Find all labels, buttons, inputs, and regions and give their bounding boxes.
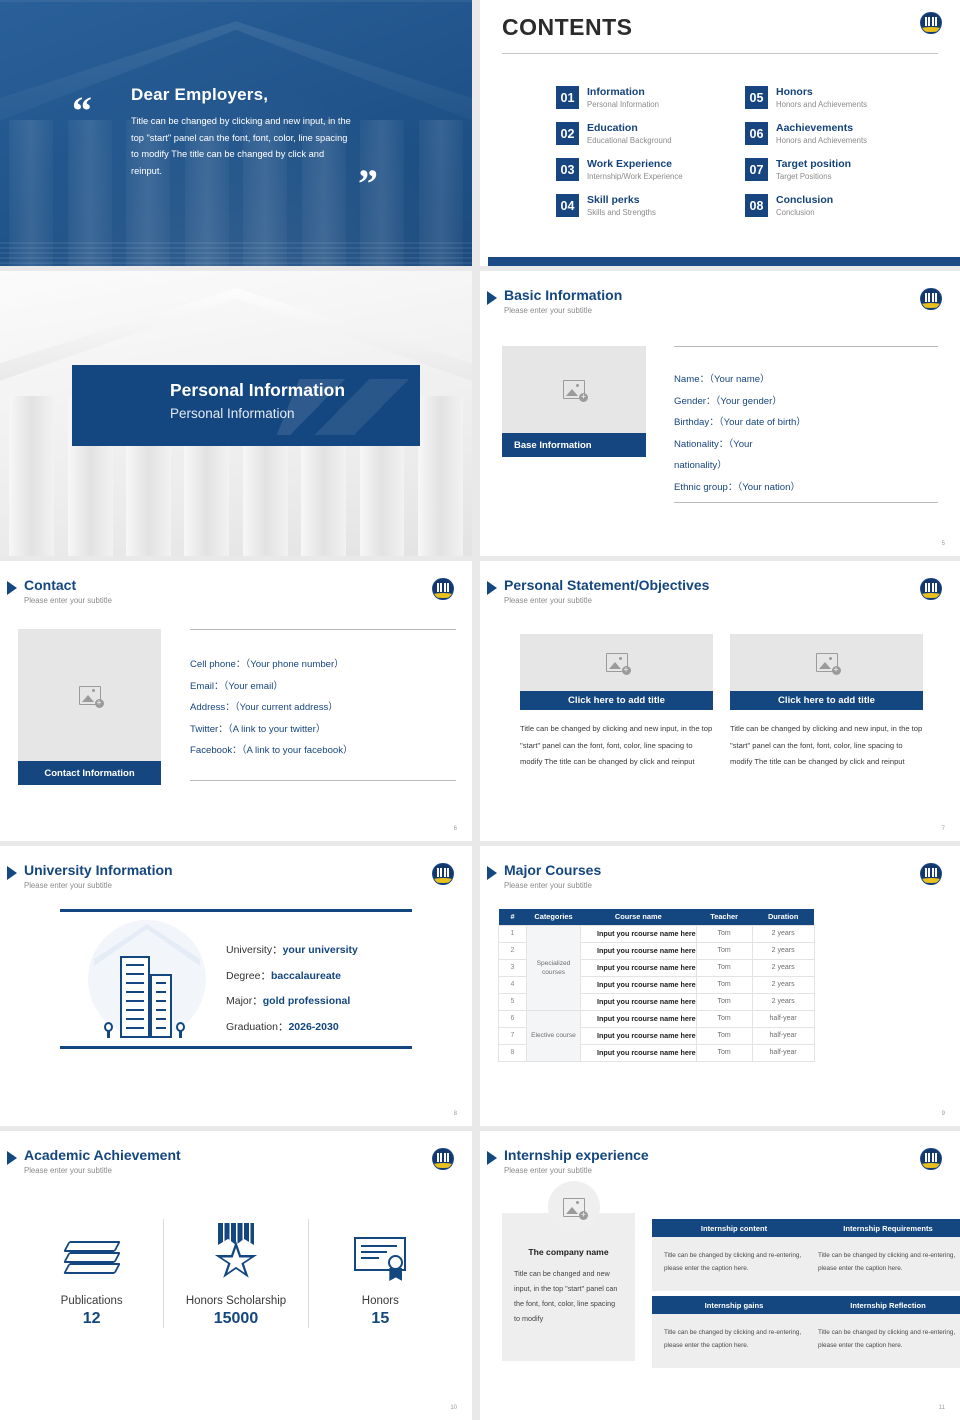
page-title: Academic Achievement — [24, 1147, 181, 1163]
field-nationality-cont: nationality） — [674, 455, 938, 477]
cell-course: Input you rcourse name here — [581, 942, 697, 959]
statement-card-2[interactable]: + Click here to add title Title can be c… — [730, 634, 923, 771]
cell-course: Input you rcourse name here — [581, 1027, 697, 1044]
page-subtitle: Please enter your subtitle — [504, 1166, 592, 1175]
cover-text-block: Dear Employers, Title can be changed by … — [131, 85, 351, 179]
contents-number: 06 — [745, 122, 768, 145]
card-caption[interactable]: Internship gains — [652, 1296, 816, 1314]
cell-course: Input you rcourse name here — [581, 959, 697, 976]
card-caption[interactable]: Internship Reflection — [806, 1296, 960, 1314]
stat-label: Honors Scholarship — [186, 1295, 286, 1307]
stat-label: Publications — [61, 1295, 123, 1307]
cell-index: 5 — [499, 993, 527, 1010]
add-image-icon: + — [606, 653, 628, 672]
cell-index: 2 — [499, 942, 527, 959]
card-body: Title can be changed by clicking and re-… — [652, 1314, 816, 1368]
contents-item-title: Work Experience — [587, 158, 683, 171]
contents-item-subtitle: Personal Information — [587, 99, 659, 110]
photo-placeholder[interactable]: + — [520, 634, 713, 691]
contents-item-title: Skill perks — [587, 194, 656, 207]
university-logo-icon — [432, 578, 454, 600]
contents-item-07[interactable]: 07 Target position Target Positions — [745, 158, 930, 182]
page-title: Major Courses — [504, 862, 601, 878]
tree-icon — [176, 1022, 185, 1038]
cell-duration: 2 years — [752, 976, 814, 993]
contents-item-03[interactable]: 03 Work Experience Internship/Work Exper… — [556, 158, 741, 182]
cover-body-text: Title can be changed by clicking and new… — [131, 113, 351, 179]
page-number: 7 — [942, 826, 945, 832]
university-info-box: University：your university Degree：baccal… — [60, 909, 412, 1049]
quote-open-icon: “ — [72, 95, 92, 127]
slide-section-divider[interactable]: Personal Information Personal Informatio… — [0, 271, 472, 556]
internship-card-requirements[interactable]: Internship Requirements Title can be cha… — [806, 1219, 960, 1291]
internship-card-content[interactable]: Internship content Title can be changed … — [652, 1219, 816, 1291]
university-logo-icon — [920, 12, 942, 34]
contents-item-title: Information — [587, 86, 659, 99]
card-caption[interactable]: Internship content — [652, 1219, 816, 1237]
cell-duration: 2 years — [752, 959, 814, 976]
contents-item-subtitle: Educational Background — [587, 135, 672, 146]
field-cell-phone: Cell phone：（Your phone number） — [190, 654, 456, 676]
cell-teacher: Tom — [696, 925, 752, 942]
building-icon-tall — [120, 956, 150, 1038]
page-subtitle: Please enter your subtitle — [24, 1166, 112, 1175]
cell-duration: half-year — [752, 1027, 814, 1044]
page-subtitle: Please enter your subtitle — [504, 596, 592, 605]
statement-body-text: Title can be changed by clicking and new… — [730, 721, 923, 771]
page-subtitle: Please enter your subtitle — [504, 306, 592, 315]
cell-duration: half-year — [752, 1044, 814, 1061]
page-number: 8 — [454, 1111, 457, 1117]
cell-course: Input you rcourse name here — [581, 993, 697, 1010]
tree-icon — [104, 1022, 113, 1038]
th-teacher: Teacher — [696, 909, 752, 925]
contents-list: 01 Information Personal Information 05 H… — [556, 86, 930, 218]
cell-teacher: Tom — [696, 1044, 752, 1061]
slide-deck-grid: “ ” Dear Employers, Title can be changed… — [0, 0, 960, 1400]
cell-course: Input you rcourse name here — [581, 925, 697, 942]
add-image-icon: + — [563, 380, 585, 399]
contents-number: 04 — [556, 194, 579, 217]
contents-item-title: Conclusion — [776, 194, 833, 207]
base-information-caption[interactable]: Base Information — [502, 433, 646, 457]
slide-university-information[interactable]: University Information Please enter your… — [0, 846, 472, 1126]
cell-index: 6 — [499, 1010, 527, 1027]
statement-card-1[interactable]: + Click here to add title Title can be c… — [520, 634, 713, 771]
photo-placeholder[interactable]: + — [502, 346, 646, 433]
slide-basic-information[interactable]: Basic Information Please enter your subt… — [480, 271, 960, 556]
contents-item-05[interactable]: 05 Honors Honors and Achievements — [745, 86, 930, 110]
triangle-bullet-icon — [487, 866, 497, 880]
contents-number: 07 — [745, 158, 768, 181]
card-caption[interactable]: Internship Requirements — [806, 1219, 960, 1237]
achievement-stats: Publications 12 Honors Scholarship 15000 — [20, 1219, 452, 1328]
row-degree: Degree：baccalaureate — [226, 964, 358, 990]
title-divider — [502, 53, 938, 54]
divider-title-band: Personal Information Personal Informatio… — [72, 365, 420, 446]
certificate-icon — [354, 1219, 406, 1281]
university-logo-icon — [920, 863, 942, 885]
field-address: Address：（Your current address） — [190, 697, 456, 719]
field-bottom-rule — [190, 780, 456, 781]
university-logo-icon — [920, 578, 942, 600]
internship-card-reflection[interactable]: Internship Reflection Title can be chang… — [806, 1296, 960, 1368]
contents-number: 01 — [556, 86, 579, 109]
page-title: Personal Statement/Objectives — [504, 577, 709, 593]
page-title: CONTENTS — [502, 14, 633, 41]
cell-course: Input you rcourse name here — [581, 1044, 697, 1061]
cell-teacher: Tom — [696, 993, 752, 1010]
field-nationality: Nationality：（Your — [674, 434, 938, 456]
cell-course: Input you rcourse name here — [581, 976, 697, 993]
page-subtitle: Please enter your subtitle — [504, 881, 592, 890]
building-steps-decoration — [0, 242, 472, 266]
contents-item-title: Education — [587, 122, 672, 135]
cell-category-specialized: Specialized courses — [527, 925, 581, 1010]
page-number: 6 — [454, 826, 457, 832]
th-categories: Categories — [527, 909, 581, 925]
th-duration: Duration — [752, 909, 814, 925]
divider-title: Personal Information — [170, 380, 345, 401]
contents-item-title: Honors — [776, 86, 867, 99]
slide-personal-statement[interactable]: Personal Statement/Objectives Please ent… — [480, 561, 960, 841]
triangle-bullet-icon — [487, 581, 497, 595]
field-email: Email：（Your email） — [190, 676, 456, 698]
triangle-bullet-icon — [7, 581, 17, 595]
slide-internship-experience[interactable]: Internship experience Please enter your … — [480, 1131, 960, 1420]
contents-item-title: Target position — [776, 158, 851, 171]
building-icon-short — [150, 974, 172, 1038]
cell-course: Input you rcourse name here — [581, 1010, 697, 1027]
contents-item-subtitle: Skills and Strengths — [587, 207, 656, 218]
photo-placeholder[interactable]: + — [730, 634, 923, 691]
medal-icon — [213, 1219, 259, 1281]
slide-contents[interactable]: CONTENTS 01 Information Personal Informa… — [480, 0, 960, 266]
triangle-bullet-icon — [487, 291, 497, 305]
add-image-icon: + — [79, 686, 101, 705]
field-ethnic-group: Ethnic group：（Your nation） — [674, 477, 938, 499]
contents-item-subtitle: Internship/Work Experience — [587, 171, 683, 182]
contents-item-subtitle: Honors and Achievements — [776, 135, 867, 146]
page-title: University Information — [24, 862, 173, 878]
cell-duration: 2 years — [752, 942, 814, 959]
page-number: 10 — [450, 1405, 457, 1411]
company-description: Title can be changed and new input, in t… — [514, 1266, 623, 1326]
quote-close-icon: ” — [358, 168, 378, 200]
page-subtitle: Please enter your subtitle — [24, 881, 112, 890]
table-row: 6 Elective course Input you rcourse name… — [499, 1010, 815, 1027]
contents-item-04[interactable]: 04 Skill perks Skills and Strengths — [556, 194, 741, 218]
contact-information-caption[interactable]: Contact Information — [18, 761, 161, 785]
row-graduation: Graduation：2026-2030 — [226, 1015, 358, 1041]
cell-teacher: Tom — [696, 976, 752, 993]
cell-teacher: Tom — [696, 1027, 752, 1044]
contents-item-subtitle: Target Positions — [776, 171, 851, 182]
stat-honors: Honors 15 — [308, 1219, 452, 1328]
triangle-bullet-icon — [7, 1151, 17, 1165]
stat-value: 12 — [83, 1310, 101, 1328]
cell-teacher: Tom — [696, 959, 752, 976]
add-image-icon: + — [816, 653, 838, 672]
photo-placeholder[interactable]: + — [18, 629, 161, 761]
field-birthday: Birthday：（Your date of birth） — [674, 412, 938, 434]
contents-number: 05 — [745, 86, 768, 109]
contents-item-title: Aachievements — [776, 122, 867, 135]
page-title: Internship experience — [504, 1147, 649, 1163]
page-number: 9 — [942, 1111, 945, 1117]
photo-placeholder[interactable]: + — [548, 1181, 600, 1233]
cell-index: 7 — [499, 1027, 527, 1044]
statement-body-text: Title can be changed by clicking and new… — [520, 721, 713, 771]
cell-duration: half-year — [752, 1010, 814, 1027]
cover-title: Dear Employers, — [131, 85, 351, 105]
divider-subtitle: Personal Information — [170, 406, 295, 421]
card-body: Title can be changed by clicking and re-… — [652, 1237, 816, 1291]
contents-item-02[interactable]: 02 Education Educational Background — [556, 122, 741, 146]
page-subtitle: Please enter your subtitle — [24, 596, 112, 605]
stat-honors-scholarship: Honors Scholarship 15000 — [163, 1219, 307, 1328]
internship-card-gains[interactable]: Internship gains Title can be changed by… — [652, 1296, 816, 1368]
company-name: The company name — [514, 1247, 623, 1257]
row-university: University：your university — [226, 938, 358, 964]
cell-index: 4 — [499, 976, 527, 993]
th-course-name: Course name — [581, 909, 697, 925]
cell-duration: 2 years — [752, 993, 814, 1010]
university-logo-icon — [432, 863, 454, 885]
contents-item-06[interactable]: 06 Aachievements Honors and Achievements — [745, 122, 930, 146]
stat-value: 15 — [371, 1310, 389, 1328]
contents-footer-bar — [488, 257, 960, 266]
cell-category-elective: Elective course — [527, 1010, 581, 1061]
slide-cover[interactable]: “ ” Dear Employers, Title can be changed… — [0, 0, 472, 266]
stat-label: Honors — [362, 1295, 399, 1307]
box-bottom-bar — [60, 1046, 412, 1049]
th-index: # — [499, 909, 527, 925]
university-logo-icon — [920, 1148, 942, 1170]
triangle-bullet-icon — [487, 1151, 497, 1165]
card-body: Title can be changed by clicking and re-… — [806, 1237, 960, 1291]
field-facebook: Facebook：（A link to your facebook） — [190, 740, 456, 762]
contents-item-08[interactable]: 08 Conclusion Conclusion — [745, 194, 930, 218]
card-body: Title can be changed by clicking and re-… — [806, 1314, 960, 1368]
university-logo-icon — [432, 1148, 454, 1170]
cell-index: 8 — [499, 1044, 527, 1061]
add-image-icon: + — [563, 1198, 585, 1217]
field-twitter: Twitter：（A link to your twitter） — [190, 719, 456, 741]
slide-contact[interactable]: Contact Please enter your subtitle + Con… — [0, 561, 472, 841]
cell-index: 1 — [499, 925, 527, 942]
triangle-bullet-icon — [7, 866, 17, 880]
add-title-button[interactable]: Click here to add title — [730, 691, 923, 710]
contents-number: 03 — [556, 158, 579, 181]
page-title: Contact — [24, 577, 76, 593]
cell-index: 3 — [499, 959, 527, 976]
field-name: Name：（Your name） — [674, 369, 938, 391]
contents-item-01[interactable]: 01 Information Personal Information — [556, 86, 741, 110]
contents-number: 02 — [556, 122, 579, 145]
page-number: 5 — [942, 541, 945, 547]
field-bottom-rule — [674, 502, 938, 503]
table-header-row: # Categories Course name Teacher Duratio… — [499, 909, 815, 925]
field-gender: Gender：（Your gender） — [674, 391, 938, 413]
page-number: 11 — [939, 1405, 945, 1411]
books-icon — [66, 1219, 118, 1281]
university-fields: University：your university Degree：baccal… — [226, 938, 358, 1040]
table-row: 1 Specialized courses Input you rcourse … — [499, 925, 815, 942]
company-panel[interactable]: + The company name Title can be changed … — [502, 1213, 635, 1361]
university-logo-icon — [920, 288, 942, 310]
courses-table[interactable]: # Categories Course name Teacher Duratio… — [498, 909, 815, 1062]
slide-major-courses[interactable]: Major Courses Please enter your subtitle… — [480, 846, 960, 1126]
add-title-button[interactable]: Click here to add title — [520, 691, 713, 710]
contents-item-subtitle: Honors and Achievements — [776, 99, 867, 110]
contents-item-subtitle: Conclusion — [776, 207, 833, 218]
row-major: Major：gold professional — [226, 989, 358, 1015]
stat-publications: Publications 12 — [20, 1219, 163, 1328]
contents-number: 08 — [745, 194, 768, 217]
cell-teacher: Tom — [696, 942, 752, 959]
slide-academic-achievement[interactable]: Academic Achievement Please enter your s… — [0, 1131, 472, 1420]
stat-value: 15000 — [214, 1310, 259, 1328]
cell-duration: 2 years — [752, 925, 814, 942]
cell-teacher: Tom — [696, 1010, 752, 1027]
page-title: Basic Information — [504, 287, 622, 303]
